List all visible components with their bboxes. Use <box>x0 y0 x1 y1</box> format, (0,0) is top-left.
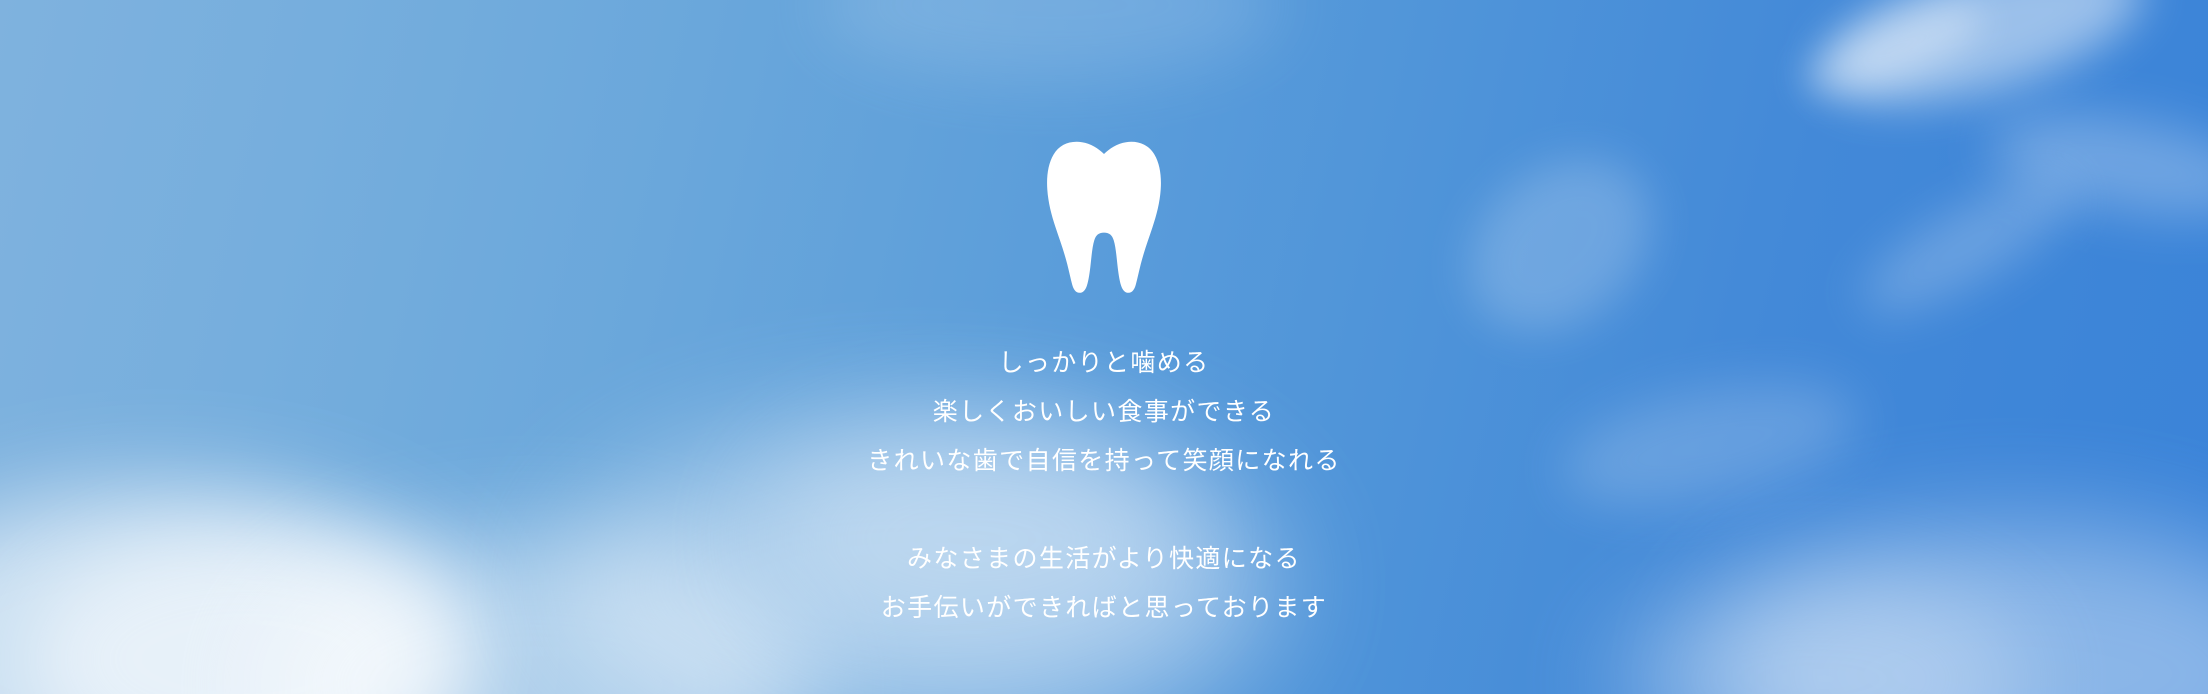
tagline-spacer <box>867 486 1341 535</box>
hero-section: しっかりと噛める 楽しくおいしい食事ができる きれいな歯で自信を持って笑顔になれ… <box>0 0 2208 694</box>
tagline-line: きれいな歯で自信を持って笑顔になれる <box>867 437 1341 486</box>
tagline-line: お手伝いができればと思っております <box>867 584 1341 633</box>
hero-content: しっかりと噛める 楽しくおいしい食事ができる きれいな歯で自信を持って笑顔になれ… <box>0 0 2208 694</box>
tagline-text: しっかりと噛める 楽しくおいしい食事ができる きれいな歯で自信を持って笑顔になれ… <box>867 339 1341 633</box>
tagline-line: しっかりと噛める <box>867 339 1341 388</box>
tagline-line: みなさまの生活がより快適になる <box>867 535 1341 584</box>
tagline-line: 楽しくおいしい食事ができる <box>867 388 1341 437</box>
tooth-icon <box>1046 138 1162 296</box>
